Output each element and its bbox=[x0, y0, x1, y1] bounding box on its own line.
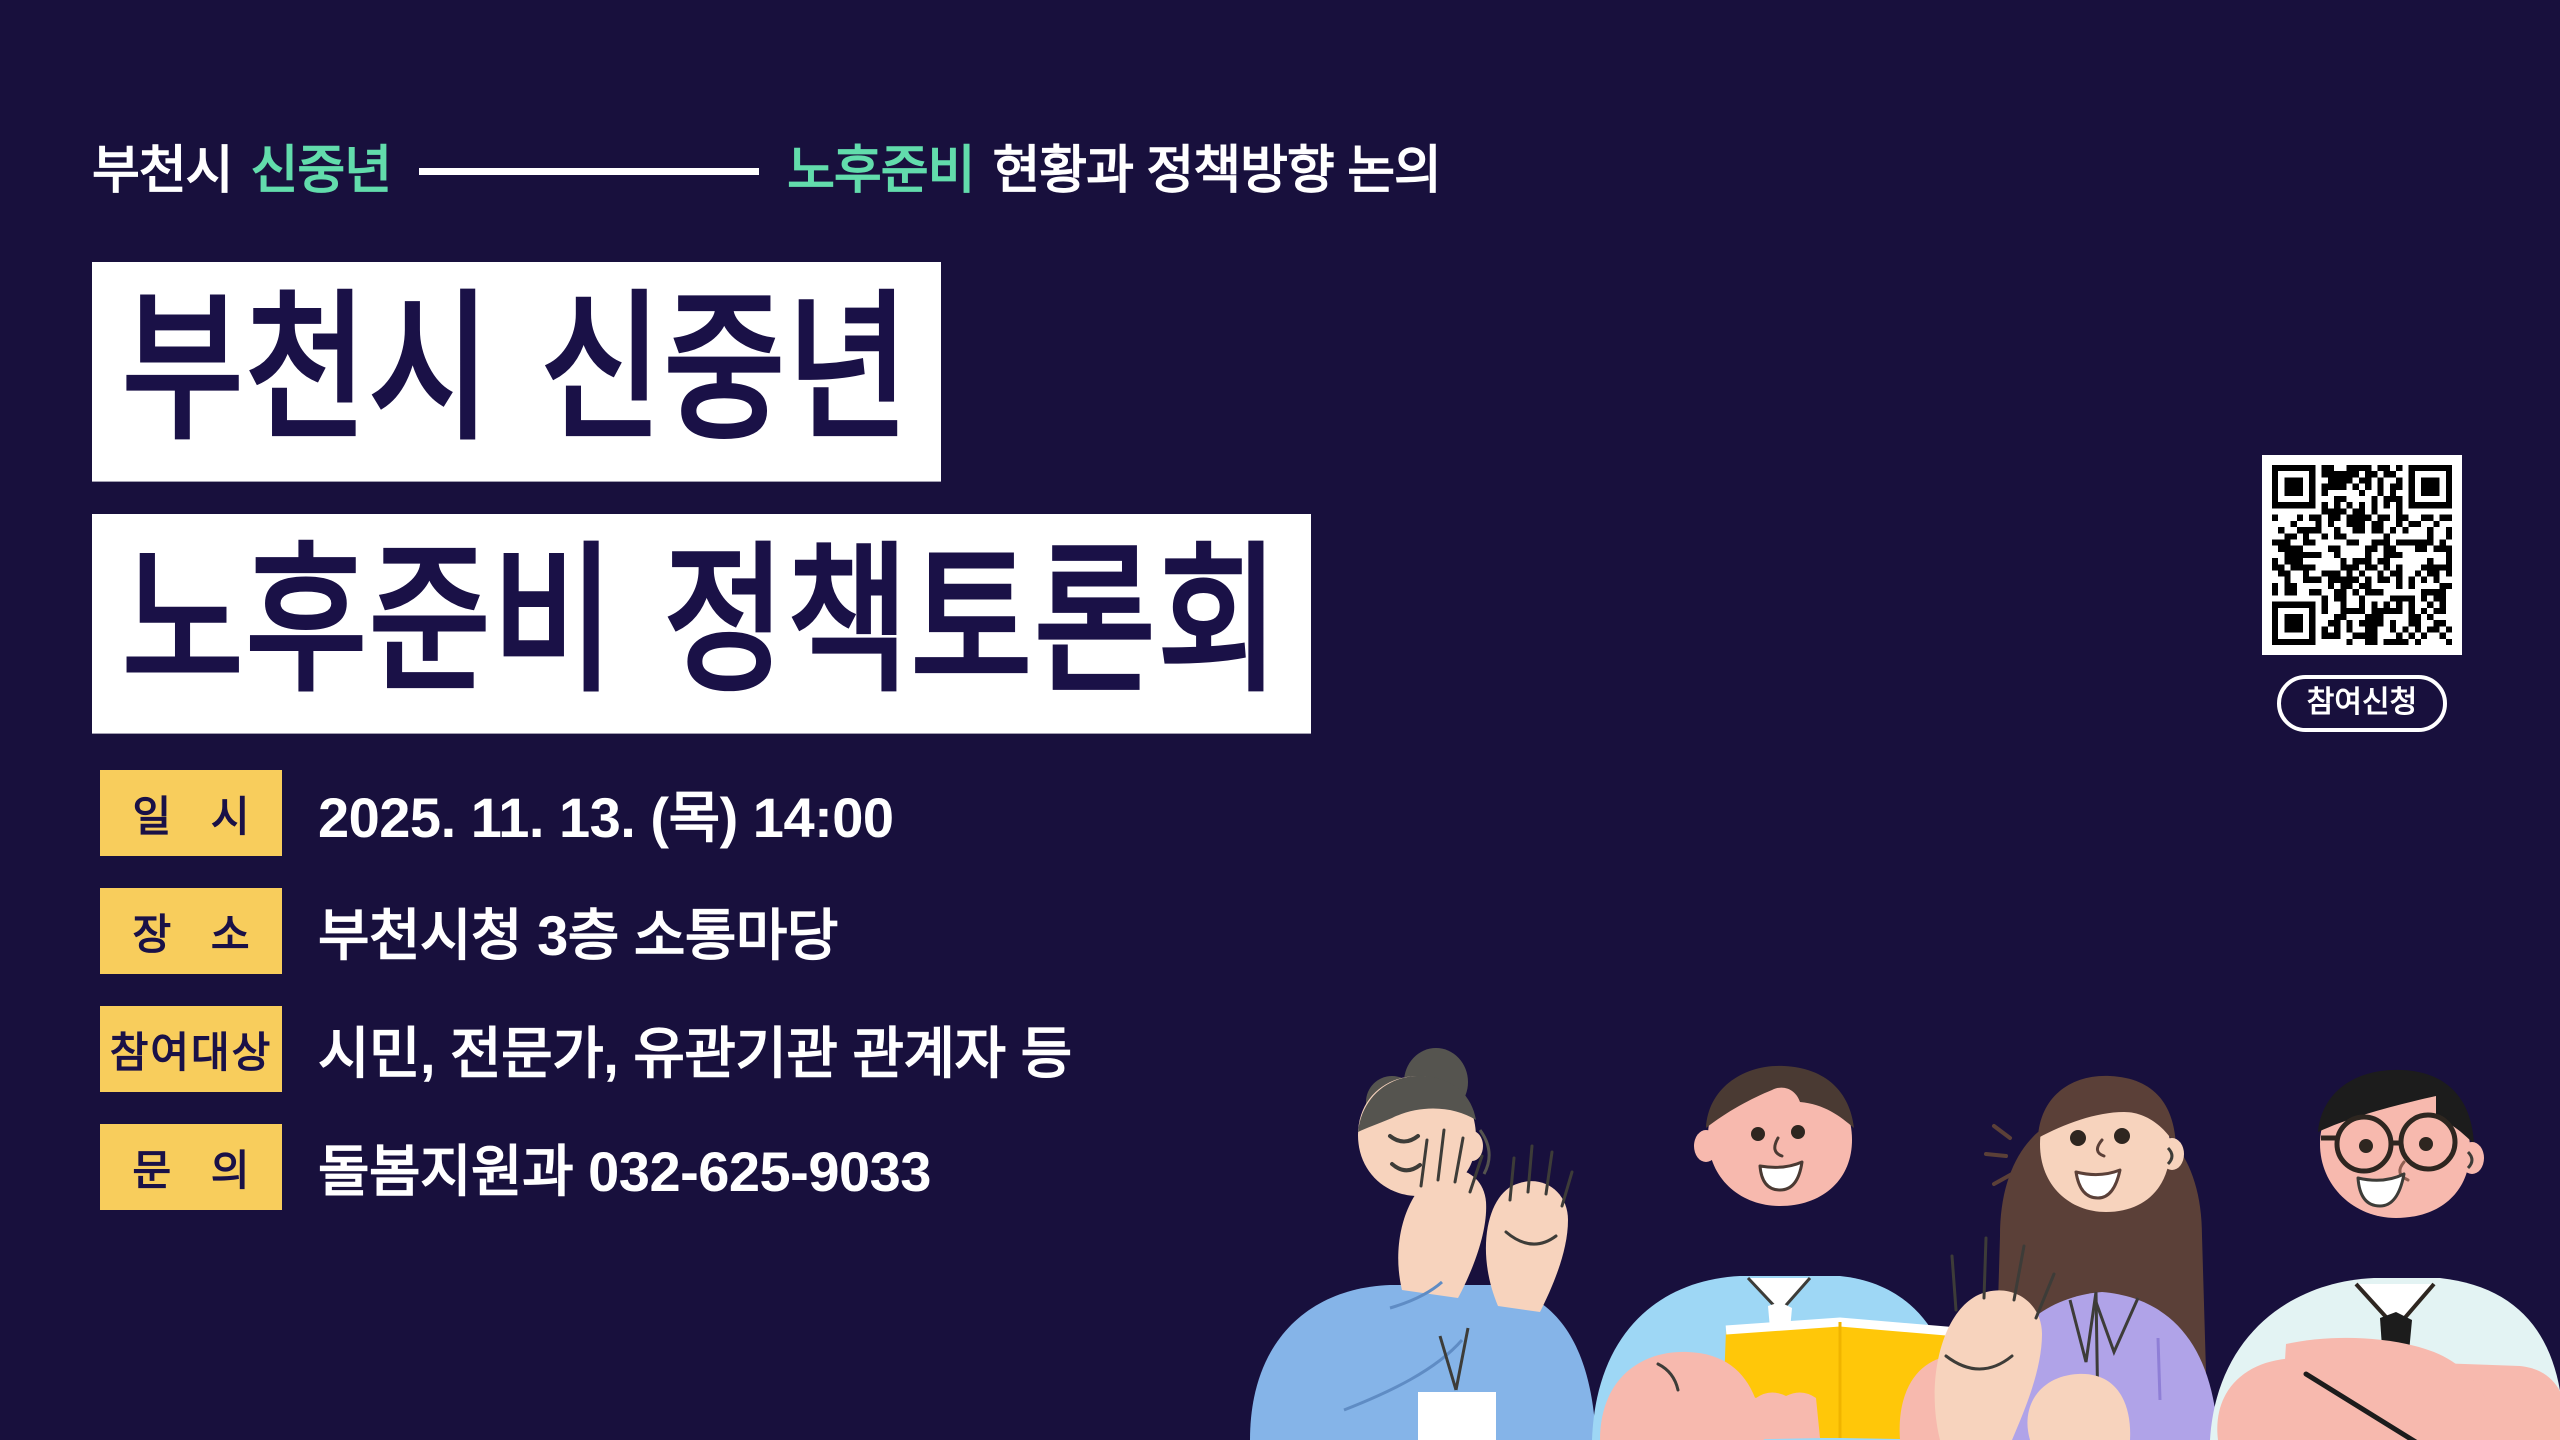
info-value: 시민, 전문가, 유관기관 관계자 등 bbox=[318, 1009, 1072, 1090]
person-woman-gray-bun bbox=[1250, 1048, 1596, 1440]
title-line-2: 노후준비 정책토론회 bbox=[92, 514, 1311, 734]
title-line-1: 부천시 신중년 bbox=[92, 262, 941, 482]
info-value: 2025. 11. 13. (목) 14:00 bbox=[318, 773, 894, 854]
apply-button[interactable]: 참여신청 bbox=[2277, 675, 2447, 732]
title-line-2-shell: 노후준비 정책토론회 bbox=[92, 514, 1311, 694]
page-title: 부천시 신중년 노후준비 정책토론회 bbox=[92, 262, 1311, 694]
person-man-glasses bbox=[2210, 1070, 2560, 1440]
person-man-book bbox=[1592, 1066, 1970, 1440]
subtitle-line: 부천시 신중년 노후준비 현황과 정책방향 논의 bbox=[92, 145, 1441, 197]
name-badge bbox=[1418, 1392, 1496, 1440]
title-line-1-shell: 부천시 신중년 bbox=[92, 262, 1311, 442]
person-woman-purple bbox=[1935, 1076, 2218, 1440]
info-label-badge: 참여대상 bbox=[100, 1006, 282, 1092]
poster-root: 부천시 신중년 노후준비 현황과 정책방향 논의 부천시 신중년 노후준비 정책… bbox=[0, 0, 2560, 1440]
qr-code-frame bbox=[2262, 455, 2462, 655]
info-label-badge: 일 시 bbox=[100, 770, 282, 856]
info-list: 일 시 2025. 11. 13. (목) 14:00 장 소 부천시청 3층 … bbox=[100, 770, 1072, 1242]
info-value: 부천시청 3층 소통마당 bbox=[318, 891, 838, 972]
info-row: 일 시 2025. 11. 13. (목) 14:00 bbox=[100, 770, 1072, 856]
qr-code-icon bbox=[2272, 465, 2452, 645]
info-label-badge: 장 소 bbox=[100, 888, 282, 974]
info-row: 참여대상 시민, 전문가, 유관기관 관계자 등 bbox=[100, 1006, 1072, 1092]
subtitle-divider-rule bbox=[419, 168, 759, 175]
illustration-people bbox=[1240, 1040, 2560, 1440]
info-label-badge: 문 의 bbox=[100, 1124, 282, 1210]
info-value: 돌봄지원과 032-625-9033 bbox=[318, 1127, 931, 1208]
subtitle-accent-2: 노후준비 bbox=[787, 145, 974, 197]
info-row: 장 소 부천시청 3층 소통마당 bbox=[100, 888, 1072, 974]
illustration-svg bbox=[1240, 1040, 2560, 1440]
subtitle-accent-1: 신중년 bbox=[251, 145, 392, 197]
qr-block[interactable]: 참여신청 bbox=[2262, 455, 2462, 732]
subtitle-part1: 부천시 bbox=[92, 145, 233, 197]
subtitle-part4: 현황과 정책방향 논의 bbox=[992, 145, 1440, 197]
info-row: 문 의 돌봄지원과 032-625-9033 bbox=[100, 1124, 1072, 1210]
